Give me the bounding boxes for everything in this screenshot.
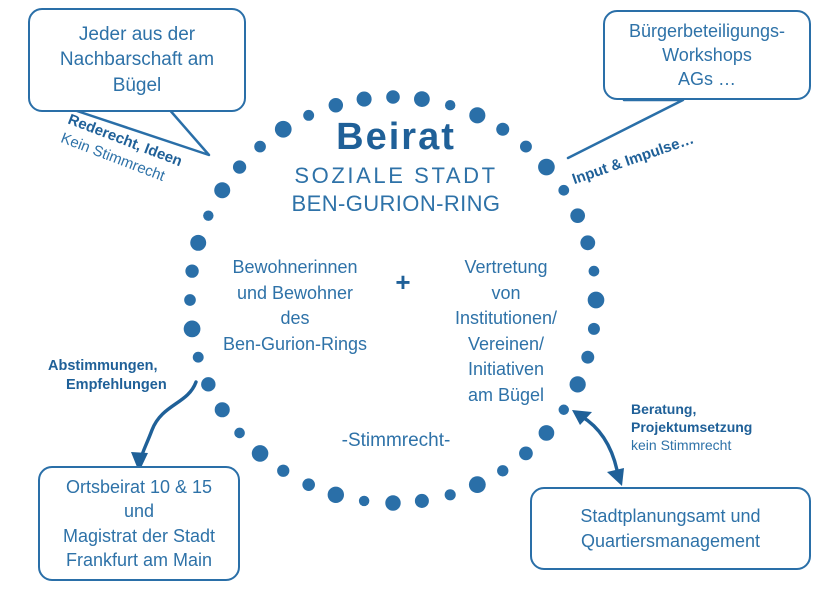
label-beratung-plain: kein Stimmrecht <box>631 436 752 454</box>
bubble-neighbourhood-line: Bügel <box>40 73 234 99</box>
plus-symbol: + <box>385 255 421 298</box>
ring-dot <box>185 264 198 277</box>
box-ortsbeirat-line: Ortsbeirat 10 & 15 <box>50 475 228 499</box>
ring-dot <box>385 495 400 510</box>
box-ortsbeirat-line: und <box>50 499 228 523</box>
box-stadtplanungsamt-line: Stadtplanungsamt und <box>542 504 799 528</box>
bubble-participation-formats[interactable]: Bürgerbeteiligungs- Workshops AGs … <box>603 10 811 100</box>
diagram-subtitle-1: SOZIALE STADT <box>196 165 596 187</box>
bubble-participation-line: Bürgerbeteiligungs- <box>615 19 799 43</box>
ring-dot <box>357 92 372 107</box>
voting-right-note: -Stimmrecht- <box>196 430 596 452</box>
ring-dot <box>302 478 315 491</box>
ring-dot <box>445 489 456 500</box>
ring-dot <box>386 90 400 104</box>
ring-dot <box>445 100 455 110</box>
label-beratung-line: Beratung, <box>631 400 752 418</box>
center-heading-block: Beirat SOZIALE STADT BEN-GURION-RING <box>196 118 596 215</box>
label-rederecht-ideen: Rederecht, Ideen Kein Stimmrecht <box>58 110 185 190</box>
bubble-participation-line: AGs … <box>615 67 799 91</box>
ring-dot <box>359 496 369 506</box>
bubble-neighbourhood[interactable]: Jeder aus der Nachbarschaft am Bügel <box>28 8 246 112</box>
members-institutions-line: von <box>421 281 591 307</box>
ring-dot <box>469 476 486 493</box>
members-residents-line: Bewohnerinnen <box>205 255 385 281</box>
label-beratung-line: Projektumsetzung <box>631 418 752 436</box>
members-institutions-line: Vereinen/ <box>421 332 591 358</box>
label-abstimmungen-line: Abstimmungen, <box>48 357 167 376</box>
diagram-title: Beirat <box>196 118 596 156</box>
members-institutions-line: Vertretung <box>421 255 591 281</box>
diagram-canvas: Beirat SOZIALE STADT BEN-GURION-RING Bew… <box>0 0 820 600</box>
members-institutions: Vertretung von Institutionen/ Vereinen/ … <box>421 255 591 408</box>
members-institutions-line: Initiativen <box>421 357 591 383</box>
ring-dot <box>277 465 289 477</box>
ring-dot <box>190 235 206 251</box>
ring-dot <box>414 91 430 107</box>
members-residents-line: des <box>205 306 385 332</box>
ring-dot <box>497 465 508 476</box>
members-residents: Bewohnerinnen und Bewohner des Ben-Gurio… <box>205 255 385 357</box>
ring-dot <box>415 494 429 508</box>
bubble-neighbourhood-line: Nachbarschaft am <box>40 47 234 73</box>
box-ortsbeirat-line: Frankfurt am Main <box>50 548 228 572</box>
label-beratung-projektumsetzung: Beratung, Projektumsetzung kein Stimmrec… <box>631 400 752 455</box>
box-ortsbeirat-magistrat[interactable]: Ortsbeirat 10 & 15 und Magistrat der Sta… <box>38 466 240 581</box>
members-institutions-line: am Bügel <box>421 383 591 409</box>
members-residents-line: und Bewohner <box>205 281 385 307</box>
box-ortsbeirat-line: Magistrat der Stadt <box>50 524 228 548</box>
members-residents-line: Ben-Gurion-Rings <box>205 332 385 358</box>
label-abstimmungen-empfehlungen: Abstimmungen, Empfehlungen <box>48 357 167 395</box>
arrow-beratung-head-up <box>572 410 592 425</box>
bubble-neighbourhood-line: Jeder aus der <box>40 22 234 48</box>
box-stadtplanungsamt[interactable]: Stadtplanungsamt und Quartiersmanagement <box>530 487 811 570</box>
arrow-beratung-head-down <box>607 468 624 486</box>
diagram-subtitle-2: BEN-GURION-RING <box>196 193 596 215</box>
bubble-participation-line: Workshops <box>615 43 799 67</box>
ring-dot <box>329 98 343 112</box>
label-abstimmungen-line: Empfehlungen <box>48 376 167 395</box>
ring-dot <box>328 487 344 503</box>
ring-dot <box>580 235 595 250</box>
ring-dot <box>184 294 196 306</box>
members-institutions-line: Institutionen/ <box>421 306 591 332</box>
center-members-block: Bewohnerinnen und Bewohner des Ben-Gurio… <box>198 255 598 408</box>
box-stadtplanungsamt-line: Quartiersmanagement <box>542 529 799 553</box>
